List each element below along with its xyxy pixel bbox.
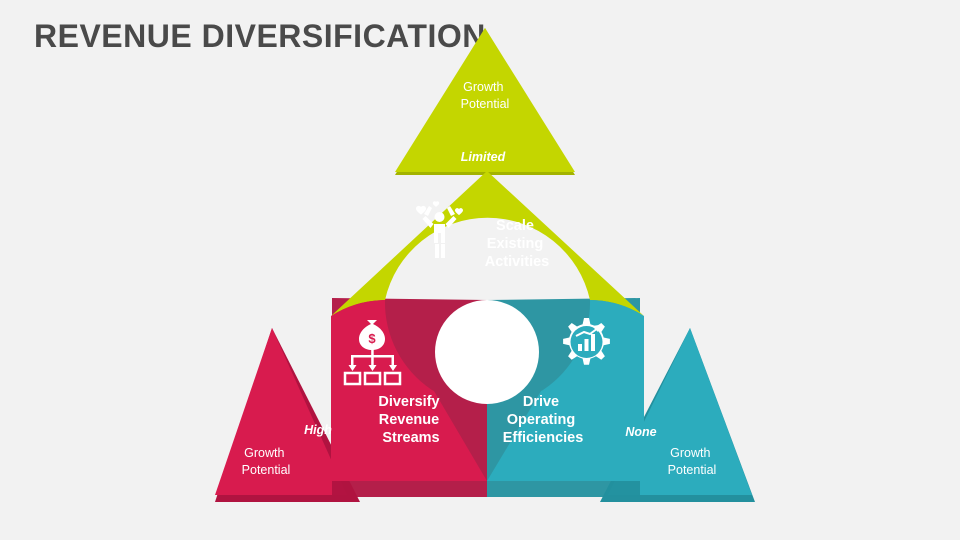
segment-scale-existing[interactable]: Scale Existing Activities <box>331 171 644 316</box>
center-hole <box>435 300 539 404</box>
person-celebrating-icon <box>416 201 463 258</box>
gear-chart-icon <box>563 318 610 365</box>
arrow-label-high: High <box>304 423 332 437</box>
arrow-label-none: None <box>625 425 656 439</box>
segment-diversify-revenue-label: Diversify Revenue Streams <box>378 394 443 446</box>
arrow-label-limited: Limited <box>461 150 506 164</box>
slide-canvas: REVENUE DIVERSIFICATION Growth Potential… <box>0 0 960 540</box>
svg-text:$: $ <box>368 331 376 346</box>
revenue-diversification-diagram: Growth Potential Growth Potential Growth… <box>0 0 960 540</box>
